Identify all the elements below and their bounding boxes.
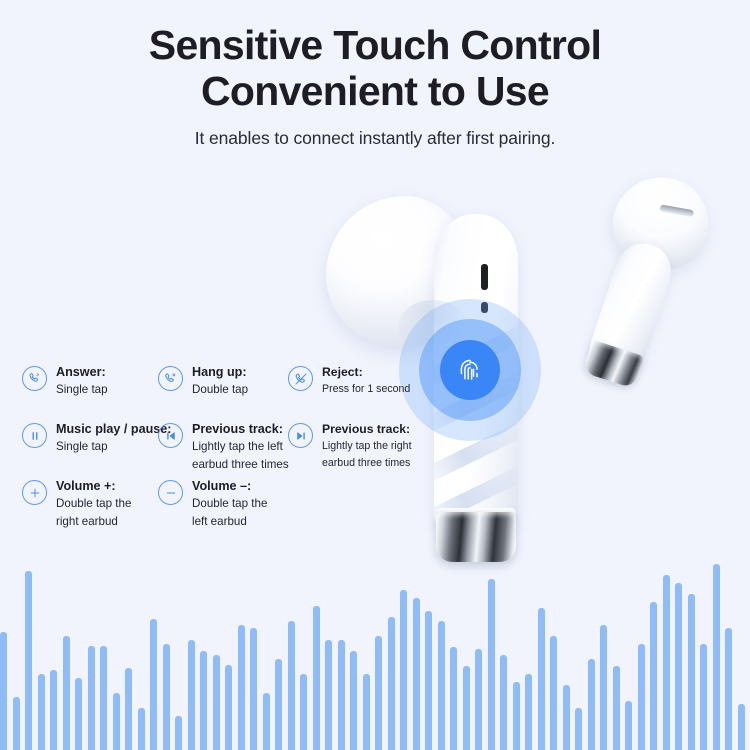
waveform-bar bbox=[563, 685, 570, 750]
waveform-bar bbox=[50, 670, 57, 750]
waveform-bar bbox=[0, 632, 7, 750]
feature-title: Volume –: bbox=[192, 479, 267, 494]
earbud-secondary-head bbox=[601, 165, 721, 282]
minus-icon bbox=[158, 480, 183, 505]
waveform-bar bbox=[13, 697, 20, 750]
feature-desc-line: Press for 1 second bbox=[322, 382, 410, 397]
waveform-bar bbox=[525, 674, 532, 750]
feature-item-previous-track-left[interactable]: Previous track: Lightly tap the left ear… bbox=[158, 422, 289, 472]
phone-reject-icon bbox=[288, 366, 313, 391]
fingerprint-icon bbox=[452, 352, 488, 388]
waveform-bar bbox=[600, 625, 607, 750]
waveform-bar bbox=[663, 575, 670, 750]
waveform-bar bbox=[188, 640, 195, 750]
feature-title: Music play / pause: bbox=[56, 422, 171, 437]
feature-item-answer[interactable]: Answer: Single tap bbox=[22, 365, 108, 398]
waveform-bar bbox=[375, 636, 382, 750]
waveform-bar bbox=[513, 682, 520, 750]
waveform-bar bbox=[313, 606, 320, 750]
touch-ripple-outer bbox=[399, 299, 541, 441]
waveform-bar bbox=[225, 665, 232, 750]
feature-item-music-play-pause[interactable]: Music play / pause: Single tap bbox=[22, 422, 171, 455]
pause-icon bbox=[22, 423, 47, 448]
waveform-bar bbox=[213, 655, 220, 750]
page-subtitle: It enables to connect instantly after fi… bbox=[0, 128, 750, 149]
waveform-bar bbox=[500, 655, 507, 750]
feature-desc-line: Lightly tap the left bbox=[192, 439, 289, 455]
waveform-bar bbox=[400, 590, 407, 750]
earbud-secondary-chrome-base bbox=[582, 340, 644, 389]
feature-title: Volume +: bbox=[56, 479, 131, 494]
waveform-bar bbox=[650, 602, 657, 750]
waveform-bar bbox=[638, 644, 645, 750]
earbud-secondary-grille bbox=[659, 204, 694, 217]
waveform-bar bbox=[588, 659, 595, 750]
feature-item-volume-up[interactable]: Volume +: Double tap the right earbud bbox=[22, 479, 131, 529]
earbud-main-mic-slot-upper bbox=[481, 264, 488, 290]
waveform-bar bbox=[163, 644, 170, 750]
page-title-line-2: Convenient to Use bbox=[0, 68, 750, 114]
waveform-bar bbox=[538, 608, 545, 750]
phone-hangup-icon bbox=[158, 366, 183, 391]
waveform-bar bbox=[288, 621, 295, 750]
waveform-bar bbox=[363, 674, 370, 750]
phone-answer-icon bbox=[22, 366, 47, 391]
waveform-bar bbox=[388, 617, 395, 750]
waveform-bar bbox=[263, 693, 270, 750]
waveform-bar bbox=[250, 628, 257, 750]
feature-title: Answer: bbox=[56, 365, 108, 380]
feature-title: Previous track: bbox=[322, 422, 412, 437]
waveform-bar bbox=[350, 651, 357, 750]
waveform-bar bbox=[413, 598, 420, 750]
skip-forward-icon bbox=[288, 423, 313, 448]
earbud-secondary-stem bbox=[588, 237, 678, 368]
touch-ripple-core bbox=[440, 340, 500, 400]
waveform-bar bbox=[238, 625, 245, 750]
waveform-bar bbox=[138, 708, 145, 750]
waveform-bar bbox=[613, 666, 620, 750]
feature-desc-line: Single tap bbox=[56, 439, 171, 455]
earbud-main-mic-slot-lower bbox=[481, 302, 488, 313]
waveform-bar bbox=[575, 708, 582, 750]
waveform-bar bbox=[700, 644, 707, 750]
waveform-bar bbox=[325, 640, 332, 750]
waveform-bar bbox=[675, 583, 682, 750]
feature-desc-line: Double tap bbox=[192, 382, 248, 398]
feature-desc-line: Double tap the bbox=[56, 496, 131, 512]
waveform-bar bbox=[450, 647, 457, 750]
feature-item-volume-down[interactable]: Volume –: Double tap the left earbud bbox=[158, 479, 267, 529]
plus-icon bbox=[22, 480, 47, 505]
waveform-bar bbox=[488, 579, 495, 750]
waveform-bar bbox=[25, 571, 32, 750]
waveform-bar bbox=[88, 646, 95, 750]
waveform-bar bbox=[63, 636, 70, 750]
waveform-bar bbox=[100, 646, 107, 750]
waveform-bar bbox=[688, 594, 695, 750]
waveform-bar bbox=[338, 640, 345, 750]
waveform-bar bbox=[200, 651, 207, 750]
waveform-bar bbox=[713, 564, 720, 750]
waveform-bar bbox=[425, 611, 432, 750]
earbud-main-head-shadow bbox=[398, 300, 468, 354]
waveform-bar bbox=[150, 619, 157, 750]
waveform-bar bbox=[625, 701, 632, 750]
waveform-bar bbox=[463, 666, 470, 750]
waveform-bar bbox=[738, 704, 745, 750]
waveform-bar bbox=[438, 621, 445, 750]
earbud-main-stem-texture bbox=[434, 214, 518, 526]
feature-item-previous-track-right[interactable]: Previous track: Lightly tap the right ea… bbox=[288, 422, 412, 470]
page-title-line-1: Sensitive Touch Control bbox=[0, 22, 750, 68]
waveform-bar bbox=[75, 678, 82, 750]
waveform-bar bbox=[300, 674, 307, 750]
waveform-bar bbox=[275, 659, 282, 750]
waveform-bar bbox=[125, 668, 132, 750]
skip-back-icon bbox=[158, 423, 183, 448]
waveform-bar bbox=[475, 649, 482, 750]
infographic-canvas: Sensitive Touch Control Convenient to Us… bbox=[0, 0, 750, 750]
feature-desc-line: Double tap the bbox=[192, 496, 267, 512]
feature-desc-line: right earbud bbox=[56, 514, 131, 530]
feature-item-reject[interactable]: Reject: Press for 1 second bbox=[288, 365, 410, 397]
feature-desc-line: left earbud bbox=[192, 514, 267, 530]
waveform-bar bbox=[550, 636, 557, 750]
audio-waveform-chart bbox=[0, 554, 750, 750]
feature-desc-line: earbud three times bbox=[192, 457, 289, 473]
feature-title: Reject: bbox=[322, 365, 410, 380]
feature-list: Answer: Single tap Hang up: Double tap bbox=[0, 357, 420, 557]
waveform-bar bbox=[175, 716, 182, 750]
earbud-main-head bbox=[326, 196, 472, 348]
earbud-main-stem bbox=[434, 214, 518, 526]
feature-title: Previous track: bbox=[192, 422, 289, 437]
feature-desc-line: Single tap bbox=[56, 382, 108, 398]
waveform-bar bbox=[725, 628, 732, 750]
feature-item-hang-up[interactable]: Hang up: Double tap bbox=[158, 365, 248, 398]
waveform-bar bbox=[113, 693, 120, 750]
feature-desc-line: earbud three times bbox=[322, 456, 412, 471]
earbud-secondary bbox=[557, 162, 727, 396]
feature-desc-line: Lightly tap the right bbox=[322, 439, 412, 454]
feature-title: Hang up: bbox=[192, 365, 248, 380]
waveform-bar bbox=[38, 674, 45, 750]
touch-ripple-middle bbox=[419, 319, 521, 421]
header-block: Sensitive Touch Control Convenient to Us… bbox=[0, 22, 750, 149]
earbud-main-chrome-lip bbox=[436, 508, 516, 518]
